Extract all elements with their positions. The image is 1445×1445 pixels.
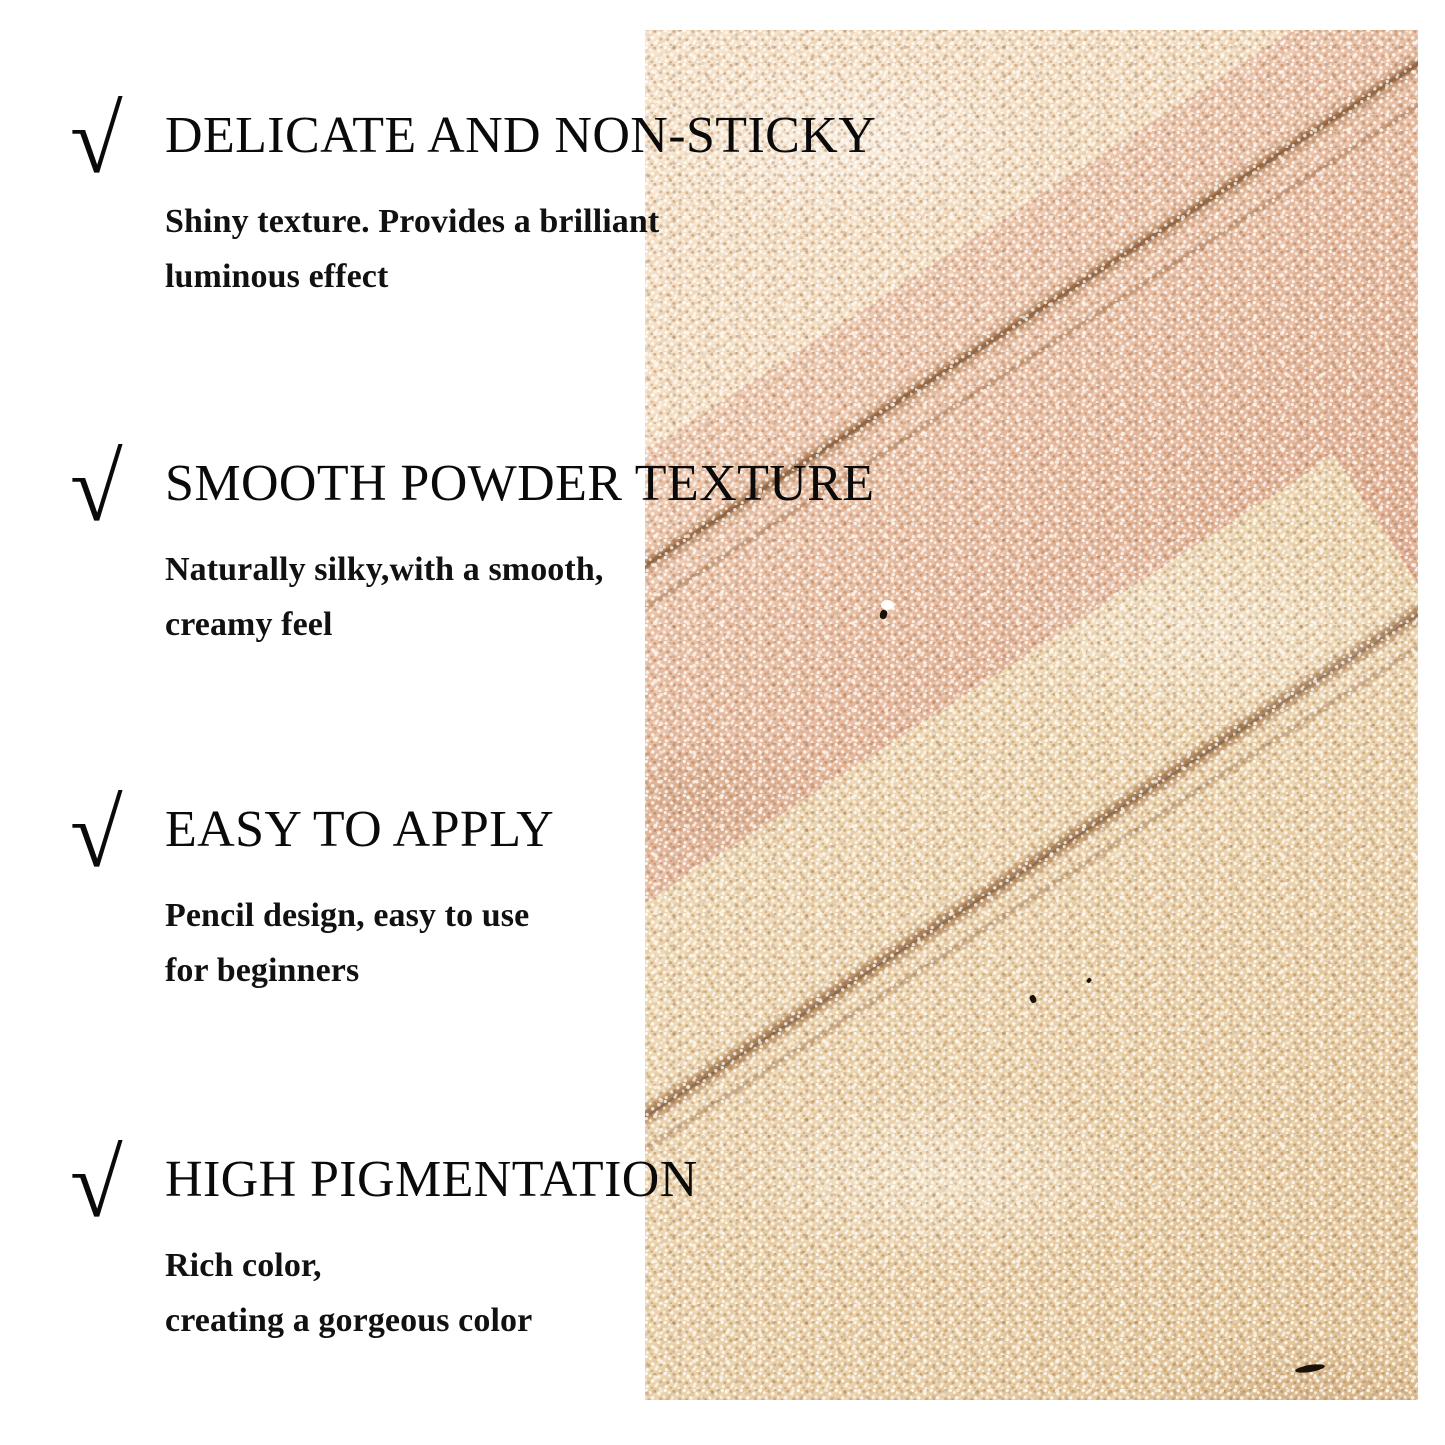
feature-body: Rich color, creating a gorgeous color [165,1238,532,1348]
feature-body: Pencil design, easy to use for beginners [165,888,529,998]
feature-body: Naturally silky,with a smooth, creamy fe… [165,542,603,652]
check-mark-icon: √ [70,440,121,536]
feature-body-line: Rich color, [165,1238,532,1293]
feature-body-line: luminous effect [165,249,659,304]
feature-heading: HIGH PIGMENTATION [165,1152,698,1207]
product-feature-infographic: √ DELICATE AND NON-STICKY Shiny texture.… [0,0,1445,1445]
feature-body: Shiny texture. Provides a brilliant lumi… [165,194,659,304]
feature-body-line: Shiny texture. Provides a brilliant [165,194,659,249]
feature-list: √ DELICATE AND NON-STICKY Shiny texture.… [0,0,1445,1445]
feature-heading: SMOOTH POWDER TEXTURE [165,456,874,511]
feature-body-line: Naturally silky,with a smooth, [165,542,603,597]
feature-body-line: Pencil design, easy to use [165,888,529,943]
feature-body-line: creamy feel [165,597,603,652]
feature-body-line: for beginners [165,943,529,998]
check-mark-icon: √ [70,92,121,188]
feature-heading: DELICATE AND NON-STICKY [165,108,876,163]
check-mark-icon: √ [70,786,121,882]
feature-body-line: creating a gorgeous color [165,1293,532,1348]
check-mark-icon: √ [70,1136,121,1232]
feature-heading: EASY TO APPLY [165,802,554,857]
